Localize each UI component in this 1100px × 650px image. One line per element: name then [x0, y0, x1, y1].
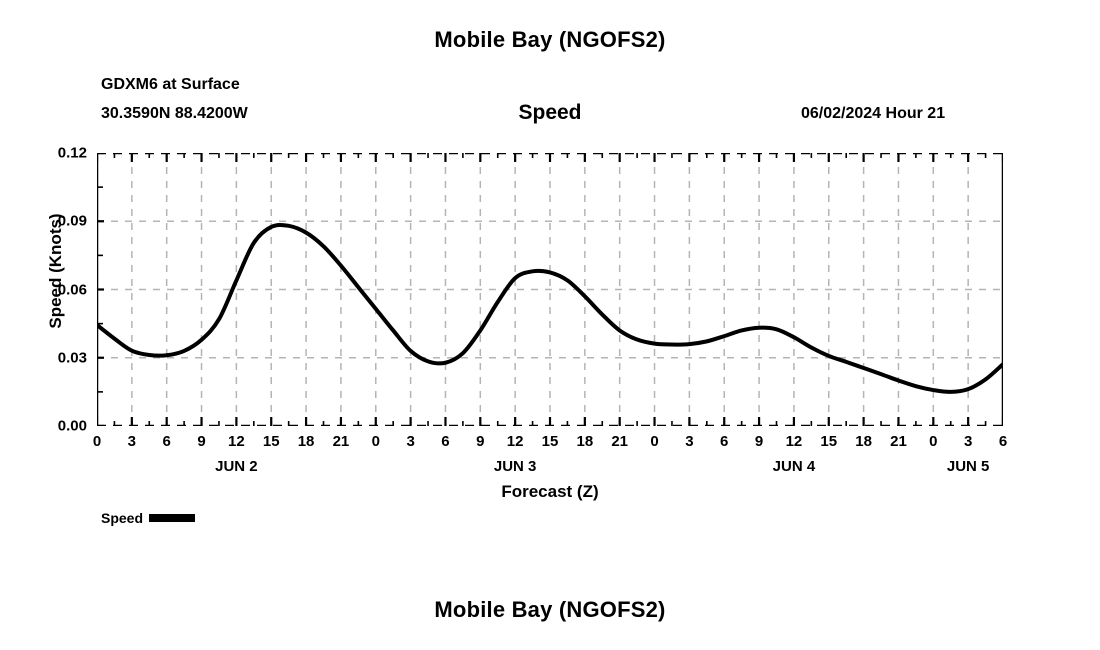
x-tick-label: 0 [372, 433, 380, 450]
page-title-bottom: Mobile Bay (NGOFS2) [0, 597, 1100, 623]
x-tick-label: 6 [720, 433, 728, 450]
y-tick-label: 0.09 [58, 213, 87, 230]
chart-page: Mobile Bay (NGOFS2) GDXM6 at Surface 30.… [0, 0, 1100, 650]
y-tick-label: 0.12 [58, 145, 87, 162]
x-tick-label: 12 [507, 433, 524, 450]
x-tick-label: 15 [820, 433, 837, 450]
x-tick-label: 9 [755, 433, 763, 450]
x-tick-label: 3 [406, 433, 414, 450]
x-tick-label: 0 [93, 433, 101, 450]
x-tick-label: 12 [228, 433, 245, 450]
x-tick-label: 15 [263, 433, 280, 450]
x-day-label: JUN 5 [947, 458, 990, 475]
x-tick-label: 3 [964, 433, 972, 450]
x-tick-label: 18 [855, 433, 872, 450]
station-label: GDXM6 at Surface [101, 76, 240, 94]
x-tick-label: 21 [611, 433, 628, 450]
x-tick-label: 15 [542, 433, 559, 450]
y-tick-label: 0.06 [58, 281, 87, 298]
x-tick-label: 9 [476, 433, 484, 450]
x-axis-title: Forecast (Z) [97, 482, 1003, 502]
legend-line-swatch [149, 514, 195, 522]
page-title-top: Mobile Bay (NGOFS2) [0, 27, 1100, 53]
y-tick-label: 0.03 [58, 349, 87, 366]
x-tick-label: 6 [999, 433, 1007, 450]
x-tick-label: 6 [163, 433, 171, 450]
chart-canvas [97, 153, 1003, 426]
y-tick-label: 0.00 [58, 418, 87, 435]
x-day-label: JUN 4 [773, 458, 816, 475]
x-tick-label: 21 [890, 433, 907, 450]
chart-legend: Speed [101, 510, 195, 526]
x-tick-label: 6 [441, 433, 449, 450]
x-tick-label: 12 [786, 433, 803, 450]
x-tick-label: 18 [577, 433, 594, 450]
plot-area: Speed (Knots) 0.000.030.060.090.12 03691… [97, 153, 1003, 426]
x-tick-label: 0 [929, 433, 937, 450]
x-tick-label: 21 [333, 433, 350, 450]
x-day-label: JUN 2 [215, 458, 258, 475]
x-tick-label: 3 [685, 433, 693, 450]
x-tick-label: 9 [197, 433, 205, 450]
x-tick-label: 3 [128, 433, 136, 450]
x-day-label: JUN 3 [494, 458, 537, 475]
model-run-time-label: 06/02/2024 Hour 21 [801, 105, 945, 123]
x-tick-label: 0 [650, 433, 658, 450]
legend-item-label: Speed [101, 510, 143, 526]
x-tick-label: 18 [298, 433, 315, 450]
